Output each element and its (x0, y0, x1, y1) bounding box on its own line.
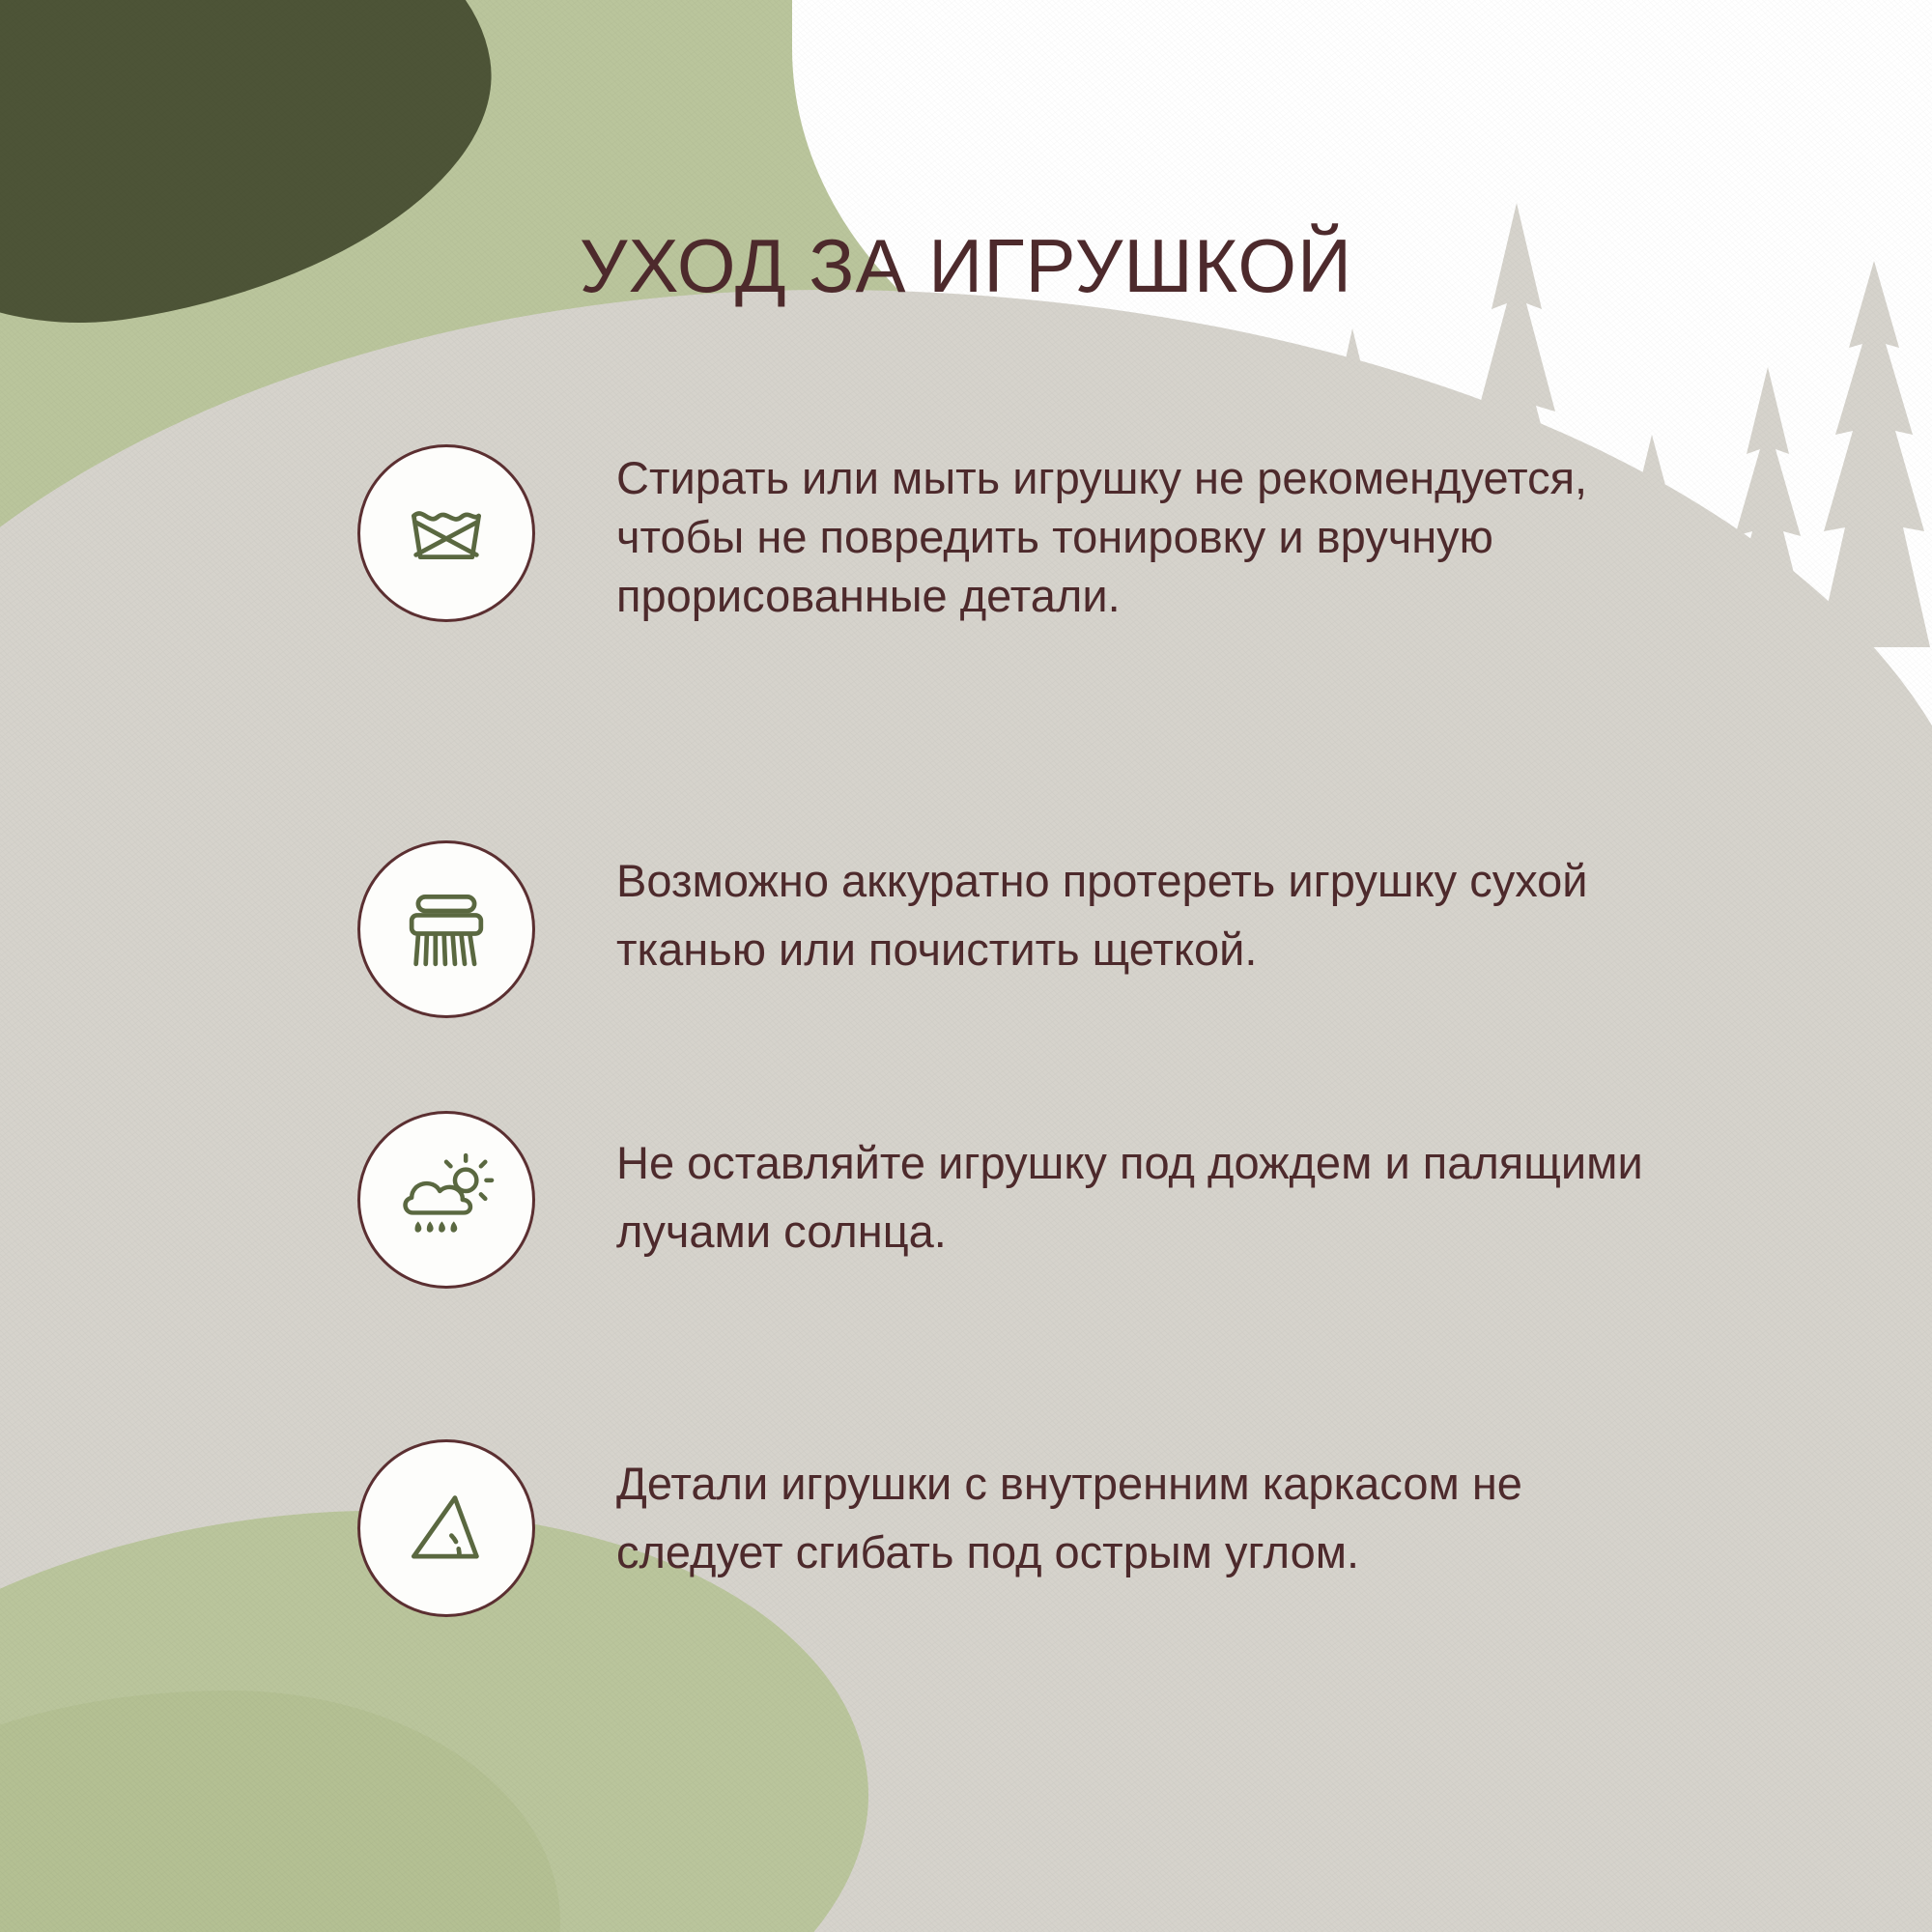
care-item-icon-badge (357, 1439, 535, 1617)
scrub-brush-icon (392, 875, 500, 983)
care-item-text: Не оставляйте игрушку под дождем и палящ… (616, 1111, 1698, 1266)
care-item-icon-badge (357, 840, 535, 1018)
no-wash-icon (392, 479, 500, 587)
care-instructions-poster: УХОД ЗА ИГРУШКОЙ Стирать или мыть игрушк… (0, 0, 1932, 1932)
page-title: УХОД ЗА ИГРУШКОЙ (0, 222, 1932, 310)
care-item: Возможно аккуратно протереть игрушку сух… (357, 840, 1729, 1018)
care-item-text: Детали игрушки с внутренним каркасом не … (616, 1439, 1698, 1587)
poster-content: УХОД ЗА ИГРУШКОЙ Стирать или мыть игрушк… (0, 0, 1932, 1932)
care-item: Не оставляйте игрушку под дождем и палящ… (357, 1111, 1729, 1289)
sun-cloud-rain-icon (392, 1146, 500, 1254)
care-item-text: Стирать или мыть игрушку не рекомендуетс… (616, 444, 1698, 625)
care-item-icon-badge (357, 1111, 535, 1289)
care-item: Детали игрушки с внутренним каркасом не … (357, 1439, 1729, 1617)
care-item: Стирать или мыть игрушку не рекомендуетс… (357, 444, 1729, 625)
acute-angle-icon (392, 1474, 500, 1582)
care-item-icon-badge (357, 444, 535, 622)
care-item-text: Возможно аккуратно протереть игрушку сух… (616, 840, 1698, 984)
